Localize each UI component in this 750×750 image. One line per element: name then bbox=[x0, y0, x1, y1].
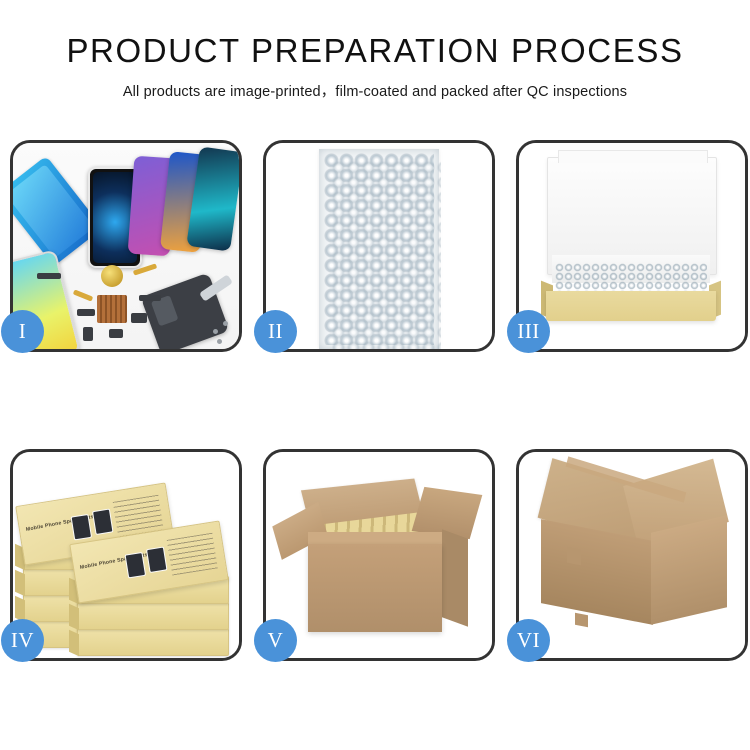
coil-part-icon bbox=[101, 265, 123, 287]
bubble-cells-overlay bbox=[331, 160, 441, 349]
page-header: PRODUCT PREPARATION PROCESS All products… bbox=[0, 0, 750, 101]
step-badge-4: IV bbox=[1, 619, 44, 662]
flex-cable-2 bbox=[73, 289, 93, 301]
box-bubble-contents bbox=[555, 263, 707, 293]
carton-filling-photo bbox=[266, 452, 492, 658]
screw-2 bbox=[223, 321, 228, 326]
part-bar-6 bbox=[139, 295, 161, 301]
step-badge-1: I bbox=[1, 310, 44, 353]
box-phone-graphic-3 bbox=[125, 552, 147, 579]
step-card-2[interactable]: II bbox=[263, 140, 495, 352]
process-steps-grid: I II III bbox=[10, 140, 740, 661]
step-card-5[interactable]: V bbox=[263, 449, 495, 661]
screw-3 bbox=[217, 339, 222, 344]
sealed-carton-side-face bbox=[651, 515, 727, 625]
carton-tab-lower bbox=[575, 613, 588, 628]
screw-1 bbox=[213, 329, 218, 334]
step-card-4[interactable]: Mobile Phone Spare Parts Mobile Phone Sp… bbox=[10, 449, 242, 661]
chip-grid-part bbox=[97, 295, 127, 323]
box-phone-graphic-1 bbox=[71, 514, 93, 541]
box-phone-graphic-2 bbox=[92, 509, 114, 536]
box-stack: Mobile Phone Spare Parts Mobile Phone Sp… bbox=[15, 470, 239, 658]
step-card-6[interactable]: VI bbox=[516, 449, 748, 661]
carton-tab-upper bbox=[567, 547, 581, 566]
part-bar-3 bbox=[131, 313, 147, 323]
part-bar-1 bbox=[37, 273, 61, 279]
step-badge-3: III bbox=[507, 310, 550, 353]
carton-right-face bbox=[442, 529, 468, 626]
carton-front-face bbox=[308, 544, 442, 632]
step-card-1[interactable]: I bbox=[10, 140, 242, 352]
box-spec-lines-2 bbox=[167, 533, 218, 576]
step-badge-5: V bbox=[254, 619, 297, 662]
phone-parts-photo bbox=[13, 143, 239, 349]
step-badge-2: II bbox=[254, 310, 297, 353]
part-bar-5 bbox=[109, 329, 123, 338]
boxed-stack-photo: Mobile Phone Spare Parts Mobile Phone Sp… bbox=[13, 452, 239, 658]
inner-box-photo bbox=[519, 143, 745, 349]
bubble-wrap-photo bbox=[266, 143, 492, 349]
box-phone-graphic-4 bbox=[146, 547, 168, 574]
step-card-3[interactable]: III bbox=[516, 140, 748, 352]
box-front-face bbox=[546, 291, 716, 321]
page-title: PRODUCT PREPARATION PROCESS bbox=[0, 34, 750, 69]
part-bar-2 bbox=[77, 309, 95, 316]
step-badge-6: VI bbox=[507, 619, 550, 662]
sealed-carton-photo bbox=[519, 452, 745, 658]
part-bar-4 bbox=[83, 327, 93, 341]
page-subtitle: All products are image-printed，film-coat… bbox=[0, 80, 750, 101]
